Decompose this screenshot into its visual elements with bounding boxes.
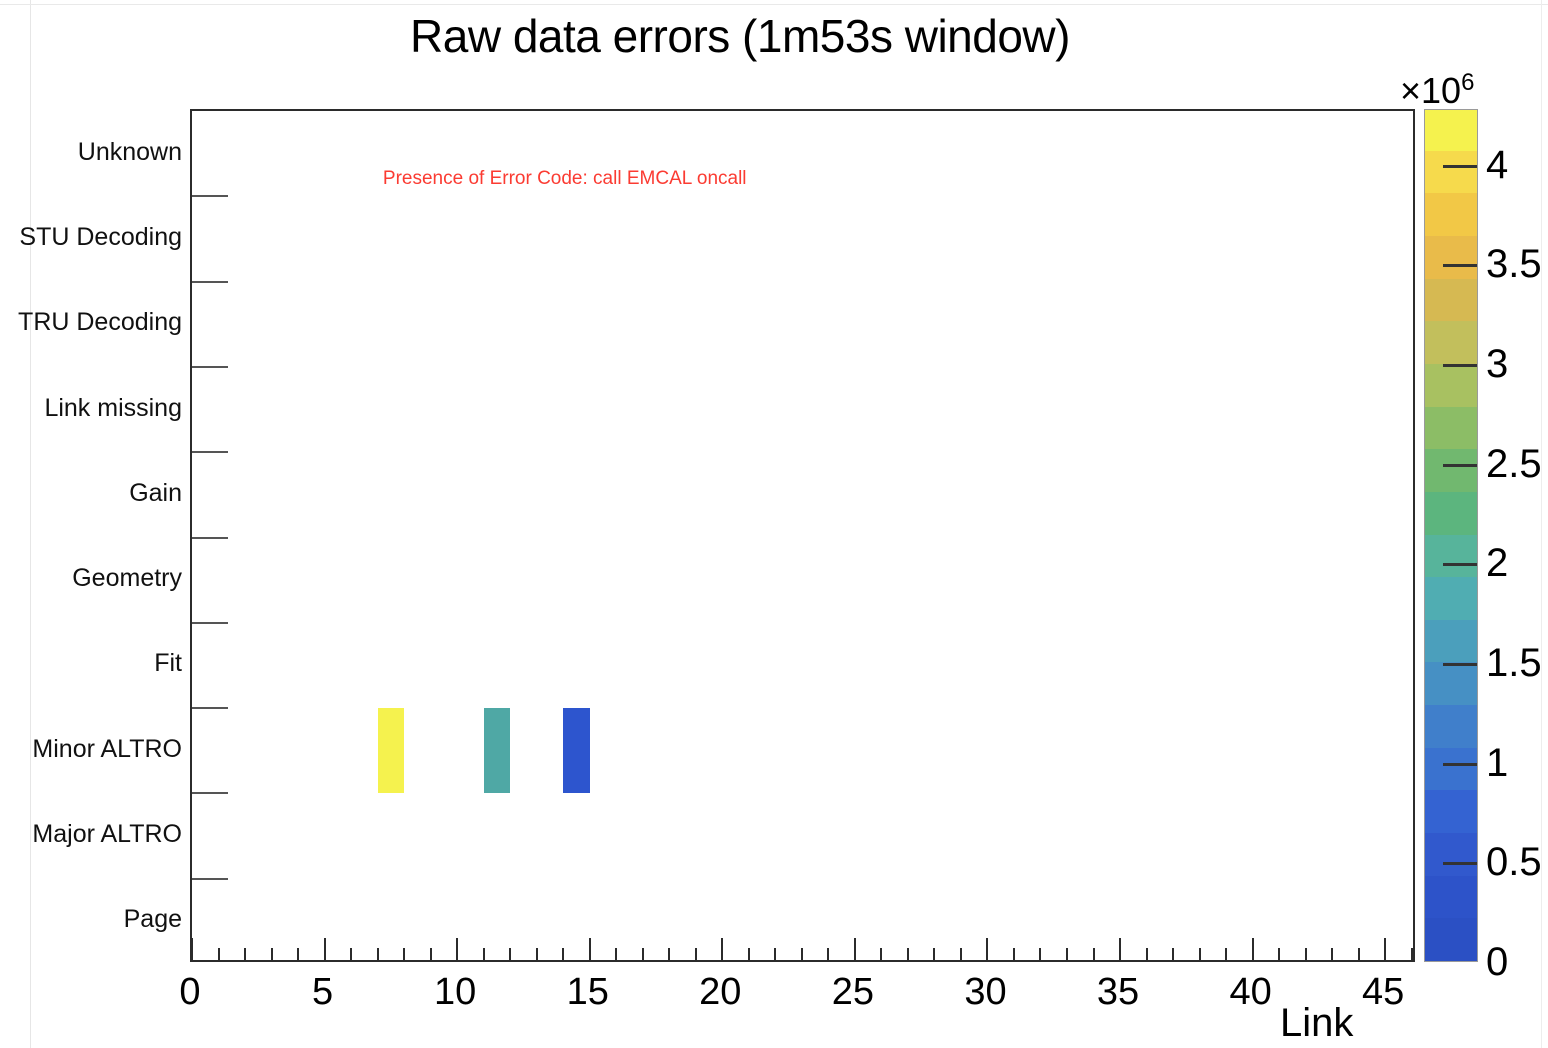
colorbar-gradient bbox=[1424, 109, 1478, 962]
x-axis-tick-label: 5 bbox=[312, 970, 333, 1014]
x-axis-tick-minor bbox=[615, 948, 617, 960]
x-axis-tick-minor bbox=[244, 948, 246, 960]
x-axis-tick-minor bbox=[1172, 948, 1174, 960]
x-axis-tick-minor bbox=[880, 948, 882, 960]
page-border-left bbox=[30, 0, 31, 1048]
colorbar-band bbox=[1425, 109, 1477, 151]
y-axis-label-minor-altro: Minor ALTRO bbox=[32, 734, 182, 764]
colorbar-band bbox=[1425, 790, 1477, 833]
plot-area: Presence of Error Code: call EMCAL oncal… bbox=[192, 111, 1413, 960]
y-axis-tick bbox=[192, 195, 228, 197]
x-axis-tick-minor bbox=[642, 948, 644, 960]
colorbar-tick-label: 1.5 bbox=[1486, 641, 1542, 685]
y-axis-label-major-altro: Major ALTRO bbox=[32, 819, 182, 849]
chart-canvas: Raw data errors (1m53s window) UnknownST… bbox=[0, 0, 1548, 1048]
y-axis-label-geometry: Geometry bbox=[72, 563, 182, 593]
y-axis-tick bbox=[192, 451, 228, 453]
x-axis-tick-major bbox=[1384, 938, 1386, 960]
y-axis-label-link-missing: Link missing bbox=[44, 393, 182, 423]
y-axis-label-tru-decoding: TRU Decoding bbox=[18, 307, 182, 337]
colorbar-band bbox=[1425, 577, 1477, 620]
colorbar-band bbox=[1425, 619, 1477, 662]
x-axis-tick-minor bbox=[907, 948, 909, 960]
y-axis-label-stu-decoding: STU Decoding bbox=[19, 222, 182, 252]
colorbar-band bbox=[1425, 449, 1477, 492]
y-axis-tick bbox=[192, 366, 228, 368]
colorbar-tick-label: 4 bbox=[1486, 143, 1508, 187]
x-axis-tick-minor bbox=[536, 948, 538, 960]
x-axis-tick-label: 30 bbox=[964, 970, 1006, 1014]
y-axis-label-fit: Fit bbox=[154, 648, 182, 678]
x-axis-tick-minor bbox=[297, 948, 299, 960]
x-axis-tick-label: 35 bbox=[1097, 970, 1139, 1014]
colorbar bbox=[1424, 109, 1478, 962]
x-axis-tick-minor bbox=[827, 948, 829, 960]
x-axis-tick-minor bbox=[218, 948, 220, 960]
colorbar-tick bbox=[1443, 563, 1478, 566]
colorbar-tick bbox=[1443, 663, 1478, 666]
x-axis-tick-major bbox=[192, 938, 193, 960]
x-axis-tick-major bbox=[324, 938, 326, 960]
x-axis-tick-label: 10 bbox=[434, 970, 476, 1014]
x-axis-tick-major bbox=[589, 938, 591, 960]
x-axis-tick-label: 45 bbox=[1362, 970, 1404, 1014]
colorbar-tick bbox=[1443, 364, 1478, 367]
x-axis-tick-minor bbox=[1225, 948, 1227, 960]
x-axis-tick-minor bbox=[801, 948, 803, 960]
colorbar-band bbox=[1425, 363, 1477, 406]
x-axis-tick-label: 15 bbox=[567, 970, 609, 1014]
x-axis-tick-minor bbox=[933, 948, 935, 960]
colorbar-tick-label: 3 bbox=[1486, 342, 1508, 386]
x-axis-tick-major bbox=[721, 938, 723, 960]
x-axis-tick-minor bbox=[695, 948, 697, 960]
x-axis-tick-major bbox=[854, 938, 856, 960]
x-axis-tick-minor bbox=[1199, 948, 1201, 960]
colorbar-tick bbox=[1443, 763, 1478, 766]
x-axis-tick-minor bbox=[562, 948, 564, 960]
y-axis-label-unknown: Unknown bbox=[78, 137, 182, 167]
x-axis-tick-major bbox=[456, 938, 458, 960]
x-axis-tick-major bbox=[1119, 938, 1121, 960]
x-axis-tick-minor bbox=[509, 948, 511, 960]
x-axis-tick-minor bbox=[350, 948, 352, 960]
y-axis-tick bbox=[192, 281, 228, 283]
x-axis-tick-minor bbox=[403, 948, 405, 960]
colorbar-band bbox=[1425, 705, 1477, 748]
colorbar-exponent: ×106 bbox=[1400, 62, 1474, 112]
colorbar-band bbox=[1425, 235, 1477, 278]
colorbar-band bbox=[1425, 406, 1477, 449]
x-axis-tick-label: 40 bbox=[1229, 970, 1271, 1014]
colorbar-band bbox=[1425, 832, 1477, 875]
y-axis-tick bbox=[192, 878, 228, 880]
x-axis-title: Link bbox=[1280, 1000, 1353, 1046]
x-axis-tick-minor bbox=[1066, 948, 1068, 960]
x-axis-tick-minor bbox=[377, 948, 379, 960]
x-axis-tick-major bbox=[1252, 938, 1254, 960]
x-axis-tick-minor bbox=[960, 948, 962, 960]
colorbar-band bbox=[1425, 534, 1477, 577]
colorbar-tick-label: 3.5 bbox=[1486, 242, 1542, 286]
x-axis-tick-minor bbox=[483, 948, 485, 960]
colorbar-band bbox=[1425, 193, 1477, 236]
colorbar-tick-label: 1 bbox=[1486, 741, 1508, 785]
y-axis-tick bbox=[192, 622, 228, 624]
x-axis-tick-minor bbox=[1331, 948, 1333, 960]
y-axis-tick bbox=[192, 707, 228, 709]
y-axis-label-page: Page bbox=[124, 904, 182, 934]
plot-frame: Presence of Error Code: call EMCAL oncal… bbox=[190, 109, 1415, 962]
x-axis-tick-minor bbox=[774, 948, 776, 960]
colorbar-band bbox=[1425, 278, 1477, 321]
heatmap-cell bbox=[378, 708, 405, 793]
colorbar-band bbox=[1425, 150, 1477, 193]
x-axis-tick-label: 20 bbox=[699, 970, 741, 1014]
x-axis-tick-label: 25 bbox=[832, 970, 874, 1014]
x-axis-tick-minor bbox=[748, 948, 750, 960]
chart-title: Raw data errors (1m53s window) bbox=[0, 8, 1480, 64]
x-axis-tick-minor bbox=[1146, 948, 1148, 960]
x-axis-tick-minor bbox=[1305, 948, 1307, 960]
colorbar-tick-label: 0 bbox=[1486, 940, 1508, 984]
x-axis-tick-minor bbox=[1358, 948, 1360, 960]
colorbar-band bbox=[1425, 875, 1477, 918]
plot-annotation: Presence of Error Code: call EMCAL oncal… bbox=[383, 167, 747, 191]
colorbar-band bbox=[1425, 747, 1477, 790]
x-axis-tick-minor bbox=[1278, 948, 1280, 960]
x-axis-tick-minor bbox=[668, 948, 670, 960]
colorbar-tick bbox=[1443, 464, 1478, 467]
x-axis-tick-minor bbox=[1093, 948, 1095, 960]
colorbar-tick-label: 2.5 bbox=[1486, 442, 1542, 486]
page-border-right bbox=[1541, 0, 1542, 1048]
x-axis-tick-label: 0 bbox=[179, 970, 200, 1014]
colorbar-band bbox=[1425, 491, 1477, 534]
x-axis-tick-minor bbox=[1039, 948, 1041, 960]
colorbar-band bbox=[1425, 662, 1477, 705]
colorbar-tick-label: 0.5 bbox=[1486, 840, 1542, 884]
y-axis-tick bbox=[192, 792, 228, 794]
colorbar-tick-label: 2 bbox=[1486, 541, 1508, 585]
x-axis-tick-minor bbox=[430, 948, 432, 960]
x-axis-tick-minor bbox=[1411, 948, 1413, 960]
page-border-top bbox=[0, 4, 1548, 5]
heatmap-cell bbox=[563, 708, 590, 793]
x-axis-tick-minor bbox=[1013, 948, 1015, 960]
colorbar-band bbox=[1425, 321, 1477, 364]
colorbar-tick bbox=[1443, 165, 1478, 168]
colorbar-tick bbox=[1443, 264, 1478, 267]
y-axis-label-gain: Gain bbox=[129, 478, 182, 508]
x-axis-tick-major bbox=[986, 938, 988, 960]
colorbar-band bbox=[1425, 918, 1477, 961]
x-axis-tick-minor bbox=[271, 948, 273, 960]
heatmap-cell bbox=[484, 708, 511, 793]
y-axis-tick bbox=[192, 537, 228, 539]
colorbar-tick bbox=[1443, 862, 1478, 865]
